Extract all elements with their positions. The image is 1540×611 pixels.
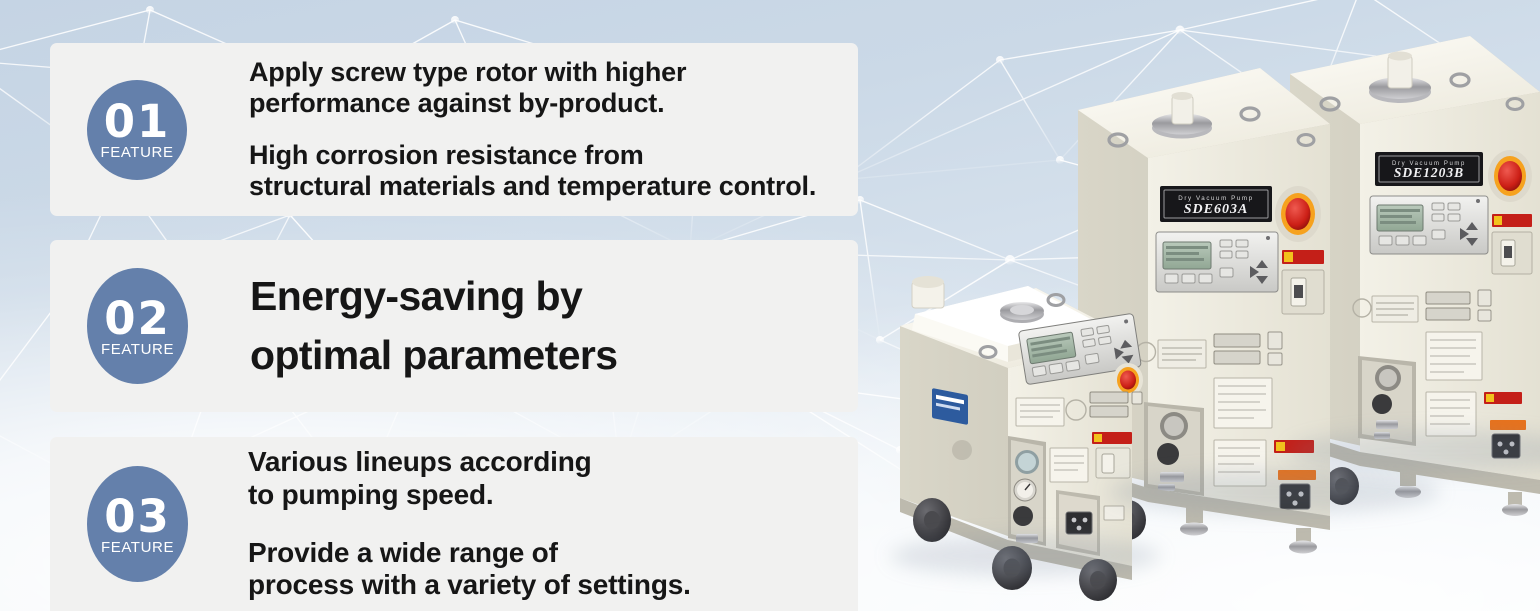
svg-text:SDE1203B: SDE1203B: [1394, 165, 1464, 180]
feature-number: 01: [104, 99, 171, 144]
feature-banner: 01 FEATURE Apply screw type rotor with h…: [0, 0, 1540, 611]
control-panel-middle: [1156, 232, 1278, 292]
feature-number: 03: [104, 494, 171, 539]
nameplate-right: Dry Vacuum Pump SDE1203B: [1375, 152, 1483, 186]
feature-card-02: 02 FEATURE Energy-saving by optimal para…: [50, 240, 858, 412]
feature-badge-03: 03 FEATURE: [87, 466, 188, 582]
feature-text-03: Various lineups according to pumping spe…: [248, 446, 691, 602]
feature-badge-02: 02 FEATURE: [87, 268, 188, 384]
svg-text:SDE603A: SDE603A: [1184, 202, 1249, 217]
feature-card-03: 03 FEATURE Various lineups according to …: [50, 437, 858, 611]
pump-units-illustration: Dry Vacuum Pump SDE1203B: [860, 0, 1540, 611]
control-panel-right: [1370, 196, 1488, 254]
feature-label: FEATURE: [100, 145, 173, 160]
feature-line: Apply screw type rotor with higher perfo…: [249, 57, 816, 119]
feature-card-01: 01 FEATURE Apply screw type rotor with h…: [50, 43, 858, 216]
feature-label: FEATURE: [101, 342, 174, 357]
feature-line: Energy-saving by optimal parameters: [250, 267, 617, 386]
svg-text:Dry Vacuum Pump: Dry Vacuum Pump: [1178, 195, 1253, 202]
feature-text-01: Apply screw type rotor with higher perfo…: [249, 57, 816, 201]
feature-label: FEATURE: [101, 540, 174, 555]
feature-text-02: Energy-saving by optimal parameters: [250, 267, 617, 386]
feature-line: Provide a wide range of process with a v…: [248, 537, 691, 602]
feature-badge-01: 01 FEATURE: [87, 80, 187, 180]
feature-line: Various lineups according to pumping spe…: [248, 446, 691, 511]
product-photo: Dry Vacuum Pump SDE1203B: [860, 0, 1540, 611]
nameplate-middle: Dry Vacuum Pump SDE603A: [1160, 186, 1272, 222]
feature-line: High corrosion resistance from structura…: [249, 140, 816, 202]
feature-number: 02: [104, 296, 171, 341]
